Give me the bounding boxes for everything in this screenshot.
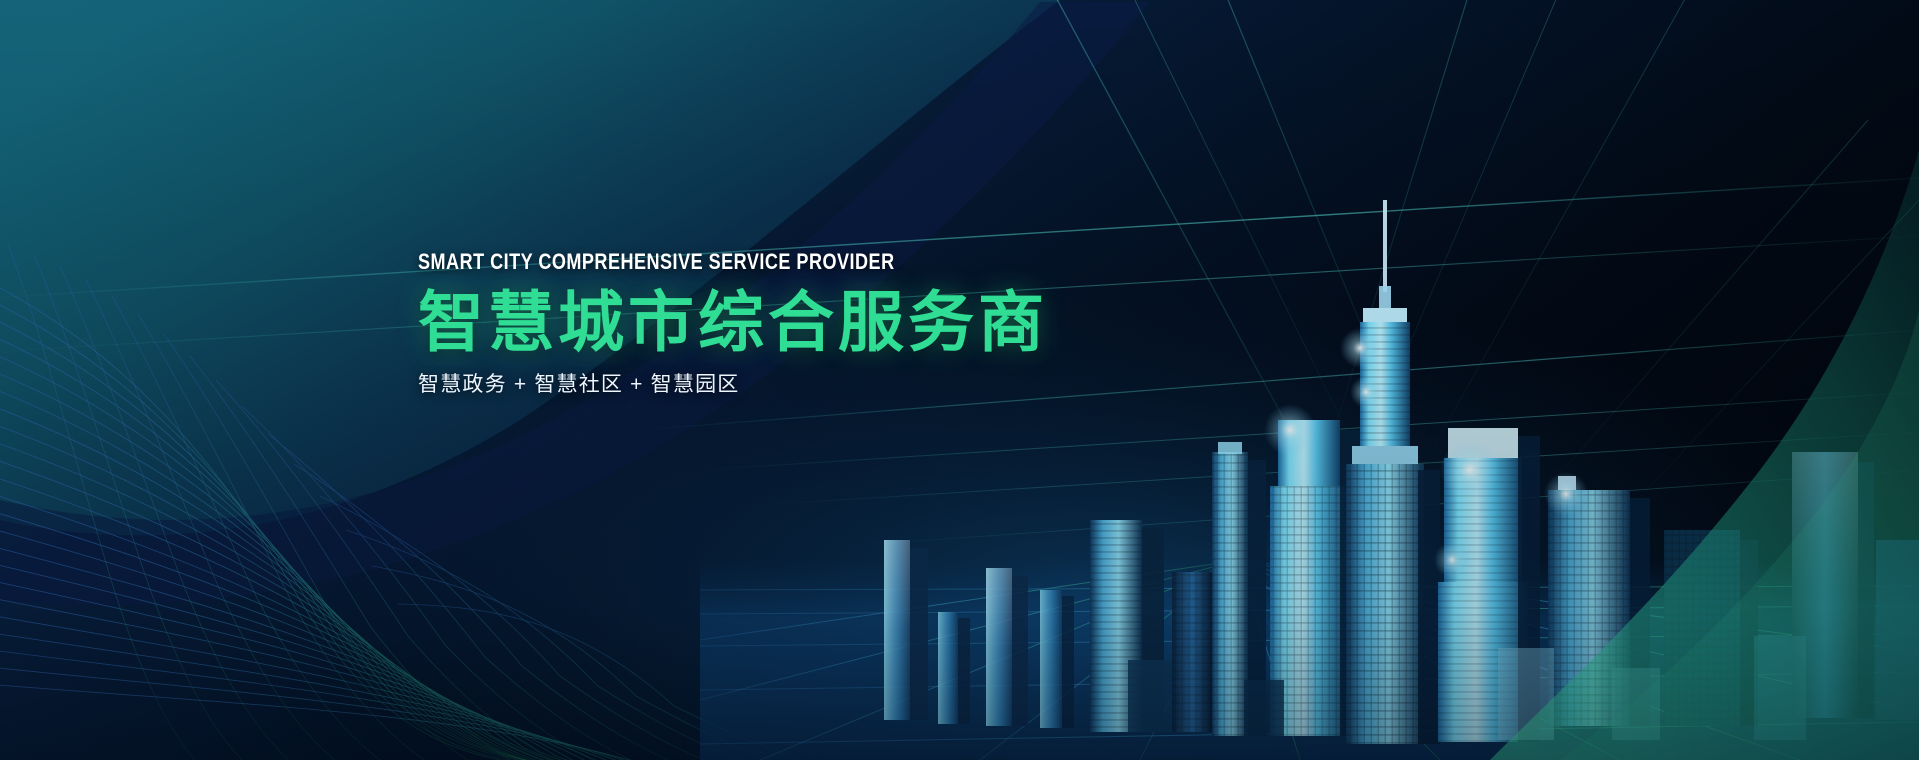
hero-copy-block: SMART CITY COMPREHENSIVE SERVICE PROVIDE… [418, 250, 1178, 399]
eyebrow-text: SMART CITY COMPREHENSIVE SERVICE PROVIDE… [418, 250, 1041, 274]
smart-city-hero-banner: SMART CITY COMPREHENSIVE SERVICE PROVIDE… [0, 0, 1919, 760]
subtitle-text: 智慧政务 + 智慧社区 + 智慧园区 [418, 370, 1178, 399]
page-title: 智慧城市综合服务商 [418, 286, 1178, 360]
